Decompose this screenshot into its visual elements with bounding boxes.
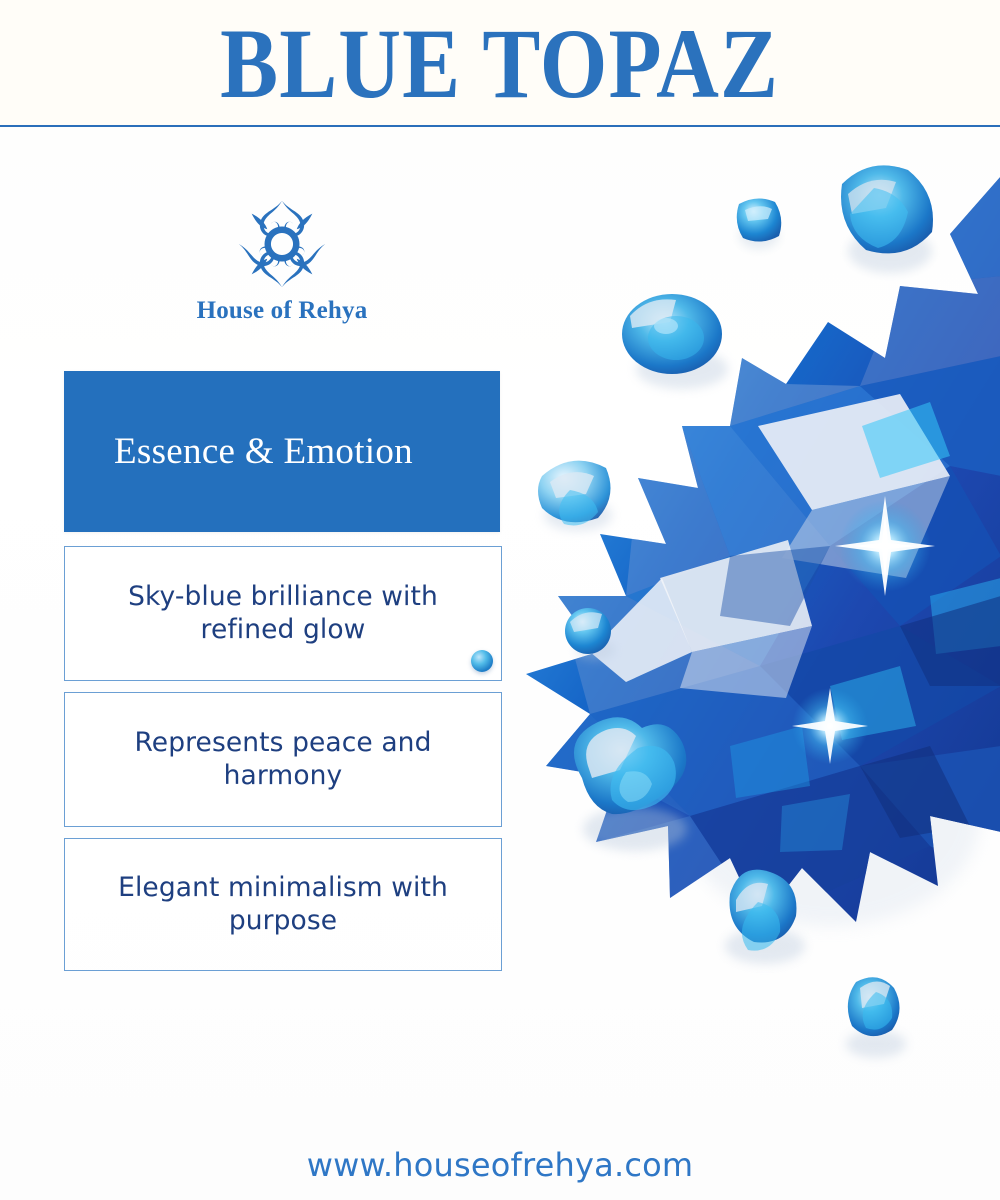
scatter-gem-oval [622, 294, 728, 389]
website-url[interactable]: www.houseofrehya.com [307, 1146, 694, 1184]
gem-sparkle-lower [792, 688, 868, 764]
section-heading-banner: Essence & Emotion [64, 371, 500, 532]
fact-card: Sky-blue brilliance with refined glow [64, 546, 502, 681]
footer-bar: www.houseofrehya.com [0, 1130, 1000, 1200]
main-gem [526, 176, 1000, 922]
scatter-gem-heart [574, 717, 687, 851]
mini-gem-icon [471, 650, 493, 672]
section-heading-label: Essence & Emotion [64, 430, 413, 473]
fact-card-text: Represents peace and harmony [65, 727, 501, 792]
scatter-gem-pear [725, 870, 805, 964]
gem-sparkle-upper [835, 496, 935, 596]
scatter-gem-trillion [538, 461, 612, 531]
header-bar: BLUE TOPAZ [0, 0, 1000, 126]
fact-card: Elegant minimalism with purpose [64, 838, 502, 971]
fact-card: Represents peace and harmony [64, 692, 502, 827]
scatter-gem-briolette [846, 977, 906, 1058]
fact-card-text: Sky-blue brilliance with refined glow [65, 581, 501, 646]
scatter-gem-cushion [841, 165, 933, 273]
brand-name: House of Rehya [197, 297, 368, 325]
scatter-gem-round-small [737, 198, 782, 249]
page-title: BLUE TOPAZ [221, 14, 780, 114]
poster-canvas: BLUE TOPAZ [0, 0, 1000, 1200]
scatter-gem-tiny-round [565, 608, 615, 660]
quatrefoil-medallion-icon [236, 198, 328, 290]
brand-block: House of Rehya [64, 198, 500, 325]
fact-card-text: Elegant minimalism with purpose [65, 872, 501, 937]
content-column: House of Rehya Essence & Emotion Sky-blu… [0, 126, 520, 1200]
